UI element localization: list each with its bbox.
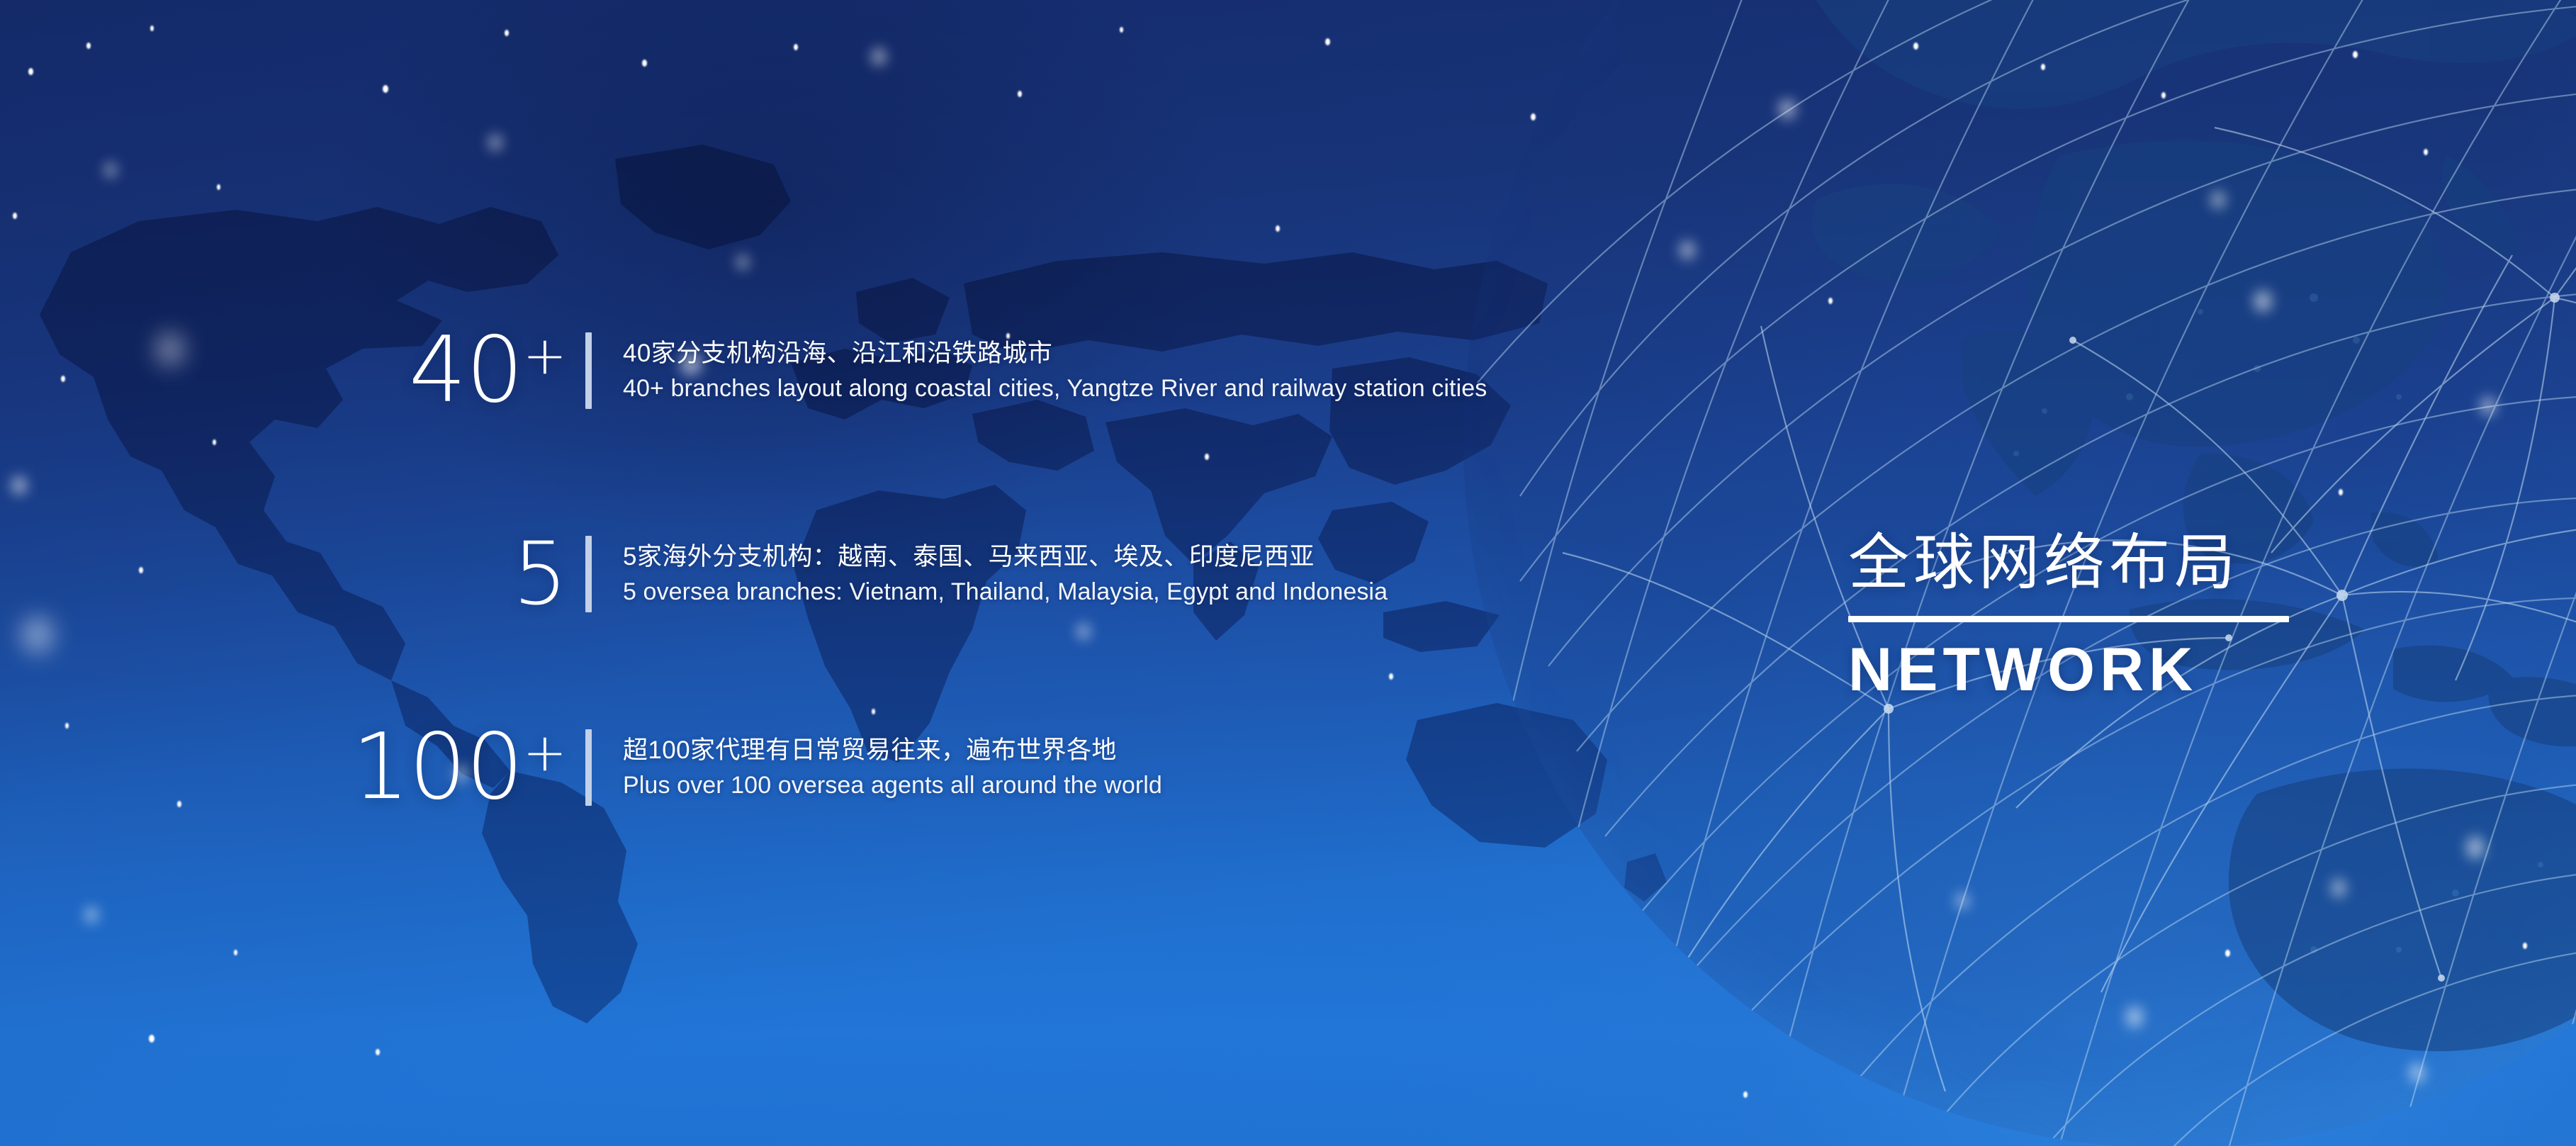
stat-number: 100+: [0, 722, 585, 813]
stat-text: 5家海外分支机构：越南、泰国、马来西亚、埃及、印度尼西亚 5 oversea b…: [623, 539, 1388, 609]
stat-text-chinese: 40家分支机构沿海、沿江和沿铁路城市: [623, 336, 1487, 371]
stat-divider: [585, 729, 592, 806]
stat-row: 5 5家海外分支机构：越南、泰国、马来西亚、埃及、印度尼西亚 5 oversea…: [0, 521, 1665, 627]
stat-number-suffix: +: [523, 721, 567, 783]
stat-number: 5: [0, 531, 585, 617]
banner-content: 40+ 40家分支机构沿海、沿江和沿铁路城市 40+ branches layo…: [0, 0, 2576, 1146]
stats-list: 40+ 40家分支机构沿海、沿江和沿铁路城市 40+ branches layo…: [0, 0, 1736, 1146]
stat-divider: [585, 332, 592, 409]
stat-text-chinese: 5家海外分支机构：越南、泰国、马来西亚、埃及、印度尼西亚: [623, 539, 1388, 575]
stat-text-english: Plus over 100 oversea agents all around …: [623, 768, 1162, 802]
stat-number-suffix: +: [523, 325, 567, 386]
stat-row: 100+ 超100家代理有日常贸易往来，遍布世界各地 Plus over 100…: [0, 714, 1665, 821]
section-title: 全球网络布局 NETWORK: [1848, 530, 2344, 702]
network-banner: 40+ 40家分支机构沿海、沿江和沿铁路城市 40+ branches layo…: [0, 0, 2576, 1146]
stat-text: 超100家代理有日常贸易往来，遍布世界各地 Plus over 100 over…: [623, 733, 1162, 802]
stat-divider: [585, 536, 592, 612]
stat-number-value: 100: [351, 714, 522, 820]
stat-number-value: 5: [512, 524, 567, 624]
stat-row: 40+ 40家分支机构沿海、沿江和沿铁路城市 40+ branches layo…: [0, 318, 1665, 424]
stat-text-chinese: 超100家代理有日常贸易往来，遍布世界各地: [623, 733, 1162, 768]
title-divider-rule: [1848, 616, 2289, 622]
section-title-english: NETWORK: [1848, 639, 2344, 702]
stat-text-english: 40+ branches layout along coastal cities…: [623, 371, 1487, 405]
stat-number-value: 40: [409, 318, 523, 423]
stat-number: 40+: [0, 325, 585, 416]
stat-text: 40家分支机构沿海、沿江和沿铁路城市 40+ branches layout a…: [623, 336, 1487, 405]
section-title-chinese: 全球网络布局: [1848, 530, 2344, 596]
stat-text-english: 5 oversea branches: Vietnam, Thailand, M…: [623, 575, 1388, 609]
